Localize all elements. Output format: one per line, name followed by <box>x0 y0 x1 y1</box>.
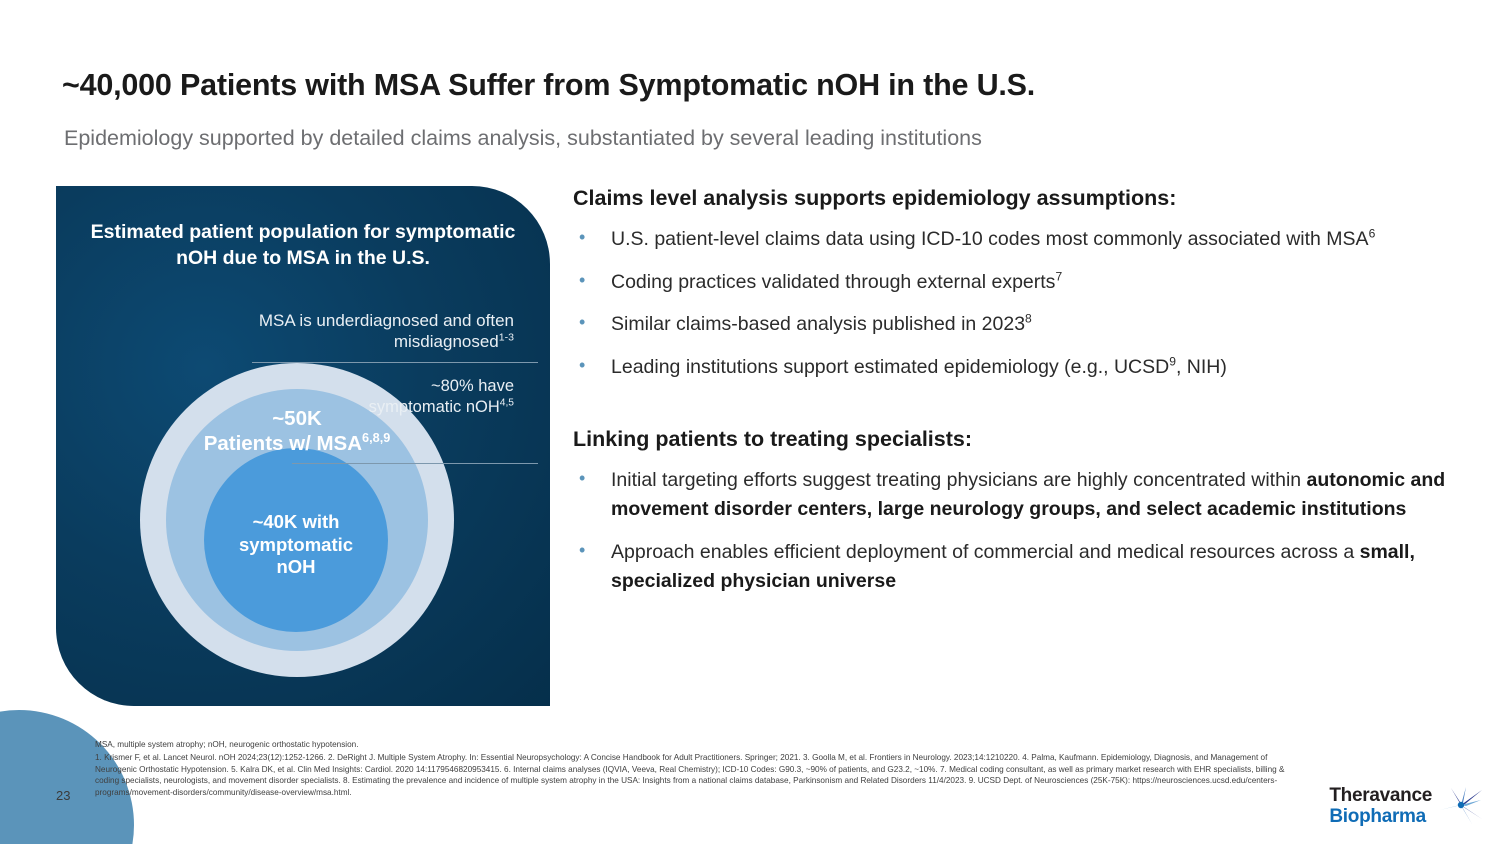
bullet-claims-4-text-post: , NIH) <box>1176 356 1227 378</box>
leader-line-lower <box>292 463 538 464</box>
slide-root: ~40,000 Patients with MSA Suffer from Sy… <box>0 0 1500 844</box>
callout-underdiagnosed-superscript: 1-3 <box>499 332 514 344</box>
theravance-biopharma-logo: Theravance Biopharma <box>1329 786 1484 826</box>
footnote-abbreviations: MSA, multiple system atrophy; nOH, neuro… <box>95 739 359 751</box>
bullet-claims-1-text: U.S. patient-level claims data using ICD… <box>611 228 1369 250</box>
footnote-references: 1. Krismer F, et al. Lancet Neurol. nOH … <box>95 752 1285 799</box>
circle-inner-label: ~40K with symptomatic nOH <box>204 511 388 579</box>
circle-mid-text: Patients w/ MSA <box>204 432 362 455</box>
logo-wordmark: Theravance Biopharma <box>1329 786 1432 826</box>
page-title: ~40,000 Patients with MSA Suffer from Sy… <box>62 68 1362 103</box>
callout-underdiagnosed-text: MSA is underdiagnosed and often misdiagn… <box>259 311 514 351</box>
callout-80-percent-text: ~80% have symptomatic nOH <box>369 377 514 416</box>
circle-inner-line3: nOH <box>276 556 315 577</box>
page-number: 23 <box>56 788 70 803</box>
bullet-claims-3-superscript: 8 <box>1025 312 1032 326</box>
bullet-claims-3: Similar claims-based analysis published … <box>573 310 1463 340</box>
callout-80-percent: ~80% have symptomatic nOH4,5 <box>354 376 514 417</box>
bullet-claims-4-text-pre: Leading institutions support estimated e… <box>611 356 1169 378</box>
bullet-claims-4-superscript: 9 <box>1169 354 1176 368</box>
bullet-linking-1-text-pre: Initial targeting efforts suggest treati… <box>611 469 1307 491</box>
content-column: Claims level analysis supports epidemiol… <box>573 186 1463 610</box>
bullet-claims-1-superscript: 6 <box>1369 227 1376 241</box>
callout-80-percent-superscript: 4,5 <box>500 397 514 408</box>
bullet-claims-2-text: Coding practices validated through exter… <box>611 271 1055 293</box>
bullet-linking-2: Approach enables efficient deployment of… <box>573 538 1463 597</box>
pinwheel-star-icon <box>1438 786 1484 826</box>
bullet-claims-2: Coding practices validated through exter… <box>573 268 1463 298</box>
circle-mid-superscript: 6,8,9 <box>362 430 390 445</box>
circle-mid-value: ~50K <box>272 407 322 430</box>
bullet-list-claims: U.S. patient-level claims data using ICD… <box>573 225 1463 383</box>
logo-line-theravance: Theravance <box>1329 786 1432 805</box>
epidemiology-diagram-panel: Estimated patient population for symptom… <box>56 186 550 706</box>
bullet-claims-2-superscript: 7 <box>1055 269 1062 283</box>
diagram-title: Estimated patient population for symptom… <box>86 220 520 272</box>
bullet-claims-4: Leading institutions support estimated e… <box>573 353 1463 383</box>
leader-line-upper <box>252 362 538 363</box>
circle-inner-line1: ~40K with <box>253 511 340 532</box>
logo-line-biopharma: Biopharma <box>1329 807 1432 826</box>
bullet-list-linking: Initial targeting efforts suggest treati… <box>573 466 1463 598</box>
section-heading-linking: Linking patients to treating specialists… <box>573 427 1463 452</box>
bullet-claims-1: U.S. patient-level claims data using ICD… <box>573 225 1463 255</box>
circle-inner-line2: symptomatic <box>239 534 353 555</box>
section-heading-claims: Claims level analysis supports epidemiol… <box>573 186 1463 211</box>
bullet-linking-1: Initial targeting efforts suggest treati… <box>573 466 1463 525</box>
bullet-claims-3-text: Similar claims-based analysis published … <box>611 313 1025 335</box>
callout-underdiagnosed: MSA is underdiagnosed and often misdiagn… <box>244 310 514 353</box>
page-subtitle: Epidemiology supported by detailed claim… <box>64 126 1364 151</box>
bullet-linking-2-text-pre: Approach enables efficient deployment of… <box>611 541 1360 563</box>
